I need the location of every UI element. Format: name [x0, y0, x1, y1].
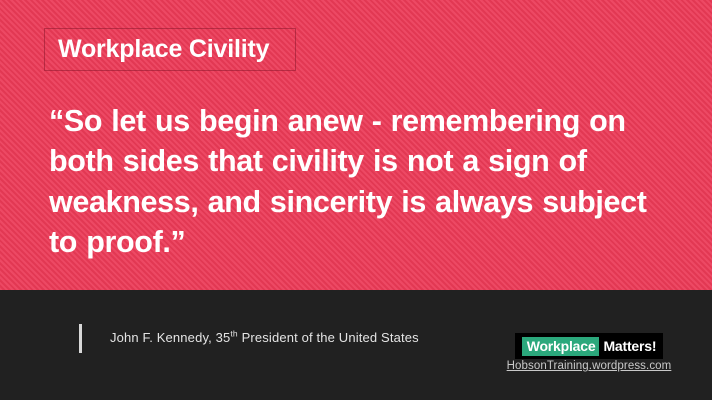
attribution-line: John F. Kennedy, 35th President of the U…	[110, 330, 419, 345]
logo-word-matters: Matters!	[599, 339, 656, 353]
page-title: Workplace Civility	[45, 37, 269, 62]
quote-body-text: “So let us begin anew - remembering on b…	[49, 101, 669, 262]
attribution-accent-bar	[79, 324, 82, 353]
attribution-name-prefix: John F. Kennedy, 35	[110, 330, 230, 345]
title-box: Workplace Civility	[44, 28, 296, 71]
presentation-slide: Workplace Civility “So let us begin anew…	[0, 0, 712, 400]
brand-logo: Workplace Matters!	[515, 333, 663, 359]
website-url-link[interactable]: HobsonTraining.wordpress.com	[487, 360, 691, 372]
logo-word-workplace: Workplace	[522, 337, 600, 356]
attribution-name-suffix: President of the United States	[238, 330, 419, 345]
attribution-ordinal-suffix: th	[230, 329, 237, 339]
